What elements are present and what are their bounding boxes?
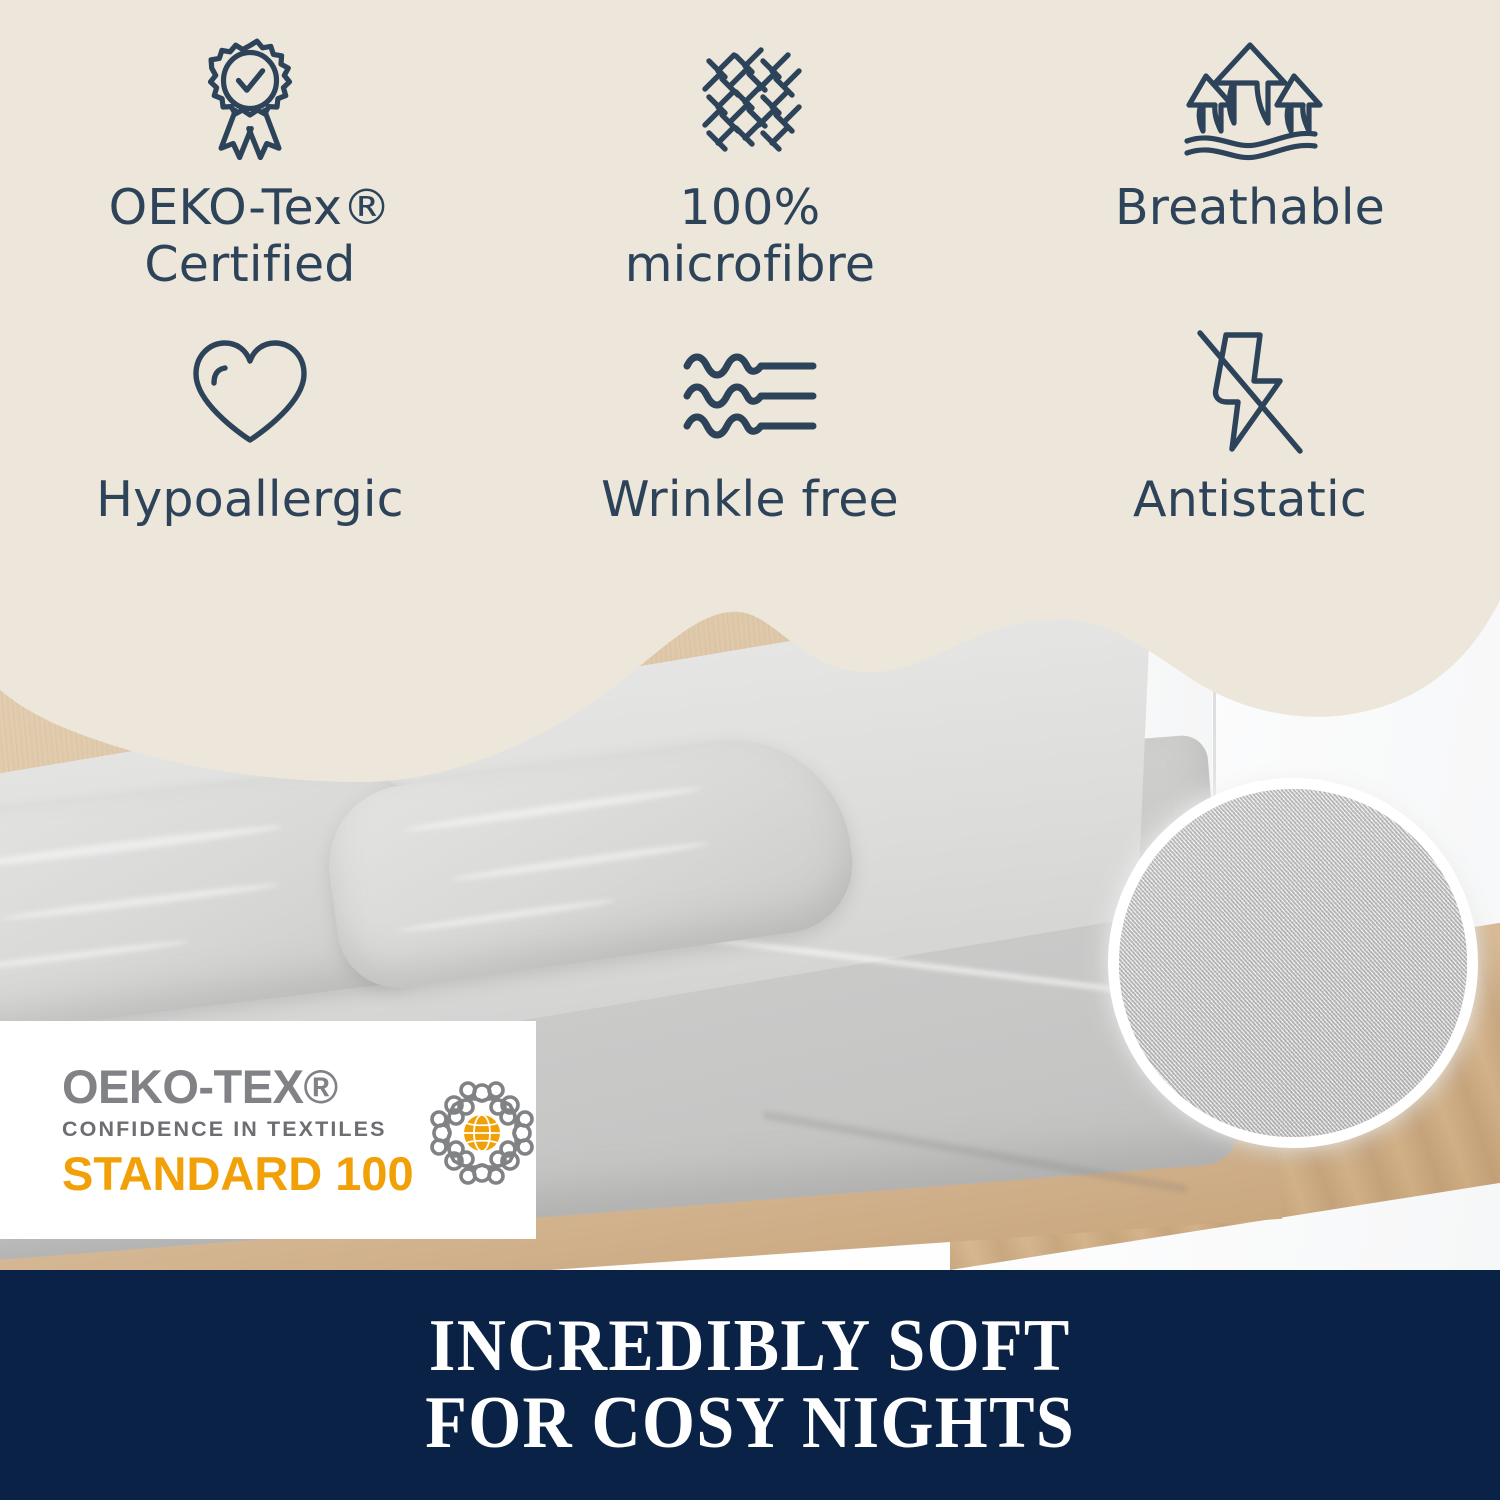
feature-label: Wrinkle free xyxy=(601,472,899,529)
fabric-weave-texture xyxy=(1119,789,1467,1137)
cert-tagline: CONFIDENCE IN TEXTILES xyxy=(62,1119,414,1141)
cert-standard: STANDARD 100 xyxy=(62,1150,414,1197)
feature-antistatic: Antistatic xyxy=(1000,310,1500,620)
no-lightning-icon xyxy=(1192,310,1308,458)
feature-grid: OEKO-Tex® Certified xyxy=(0,0,1500,620)
woven-fabric-icon xyxy=(687,0,813,166)
bottom-banner: INCREDIBLY SOFT FOR COSY NIGHTS xyxy=(0,1270,1500,1500)
feature-breathable: Breathable xyxy=(1000,0,1500,310)
feature-label: Hypoallergic xyxy=(96,472,404,529)
feature-wrinkle-free: Wrinkle free xyxy=(500,310,1000,620)
banner-line-1: INCREDIBLY SOFT xyxy=(429,1308,1071,1385)
feature-hypoallergic: Hypoallergic xyxy=(0,310,500,620)
smooth-waves-icon xyxy=(679,310,821,458)
feature-label: Antistatic xyxy=(1133,472,1367,529)
feature-microfibre: 100% microfibre xyxy=(500,0,1000,310)
feature-label: 100% microfibre xyxy=(625,180,876,294)
product-marketing-image: OEKO-Tex® Certified xyxy=(0,0,1500,1500)
banner-line-2: FOR COSY NIGHTS xyxy=(425,1385,1075,1462)
air-arrows-icon xyxy=(1177,0,1323,166)
oeko-tex-certification-box: OEKO-TEX® CONFIDENCE IN TEXTILES STANDAR… xyxy=(0,1021,536,1239)
feature-label: OEKO-Tex® Certified xyxy=(109,180,392,294)
oeko-tex-globe-icon xyxy=(430,1081,534,1190)
feature-oeko-tex-certified: OEKO-Tex® Certified xyxy=(0,0,500,310)
award-ribbon-icon xyxy=(191,0,309,166)
fabric-zoom-circle xyxy=(1108,778,1478,1148)
feature-label: Breathable xyxy=(1115,180,1385,237)
heart-icon xyxy=(188,310,312,458)
cert-brand: OEKO-TEX® xyxy=(62,1063,414,1110)
